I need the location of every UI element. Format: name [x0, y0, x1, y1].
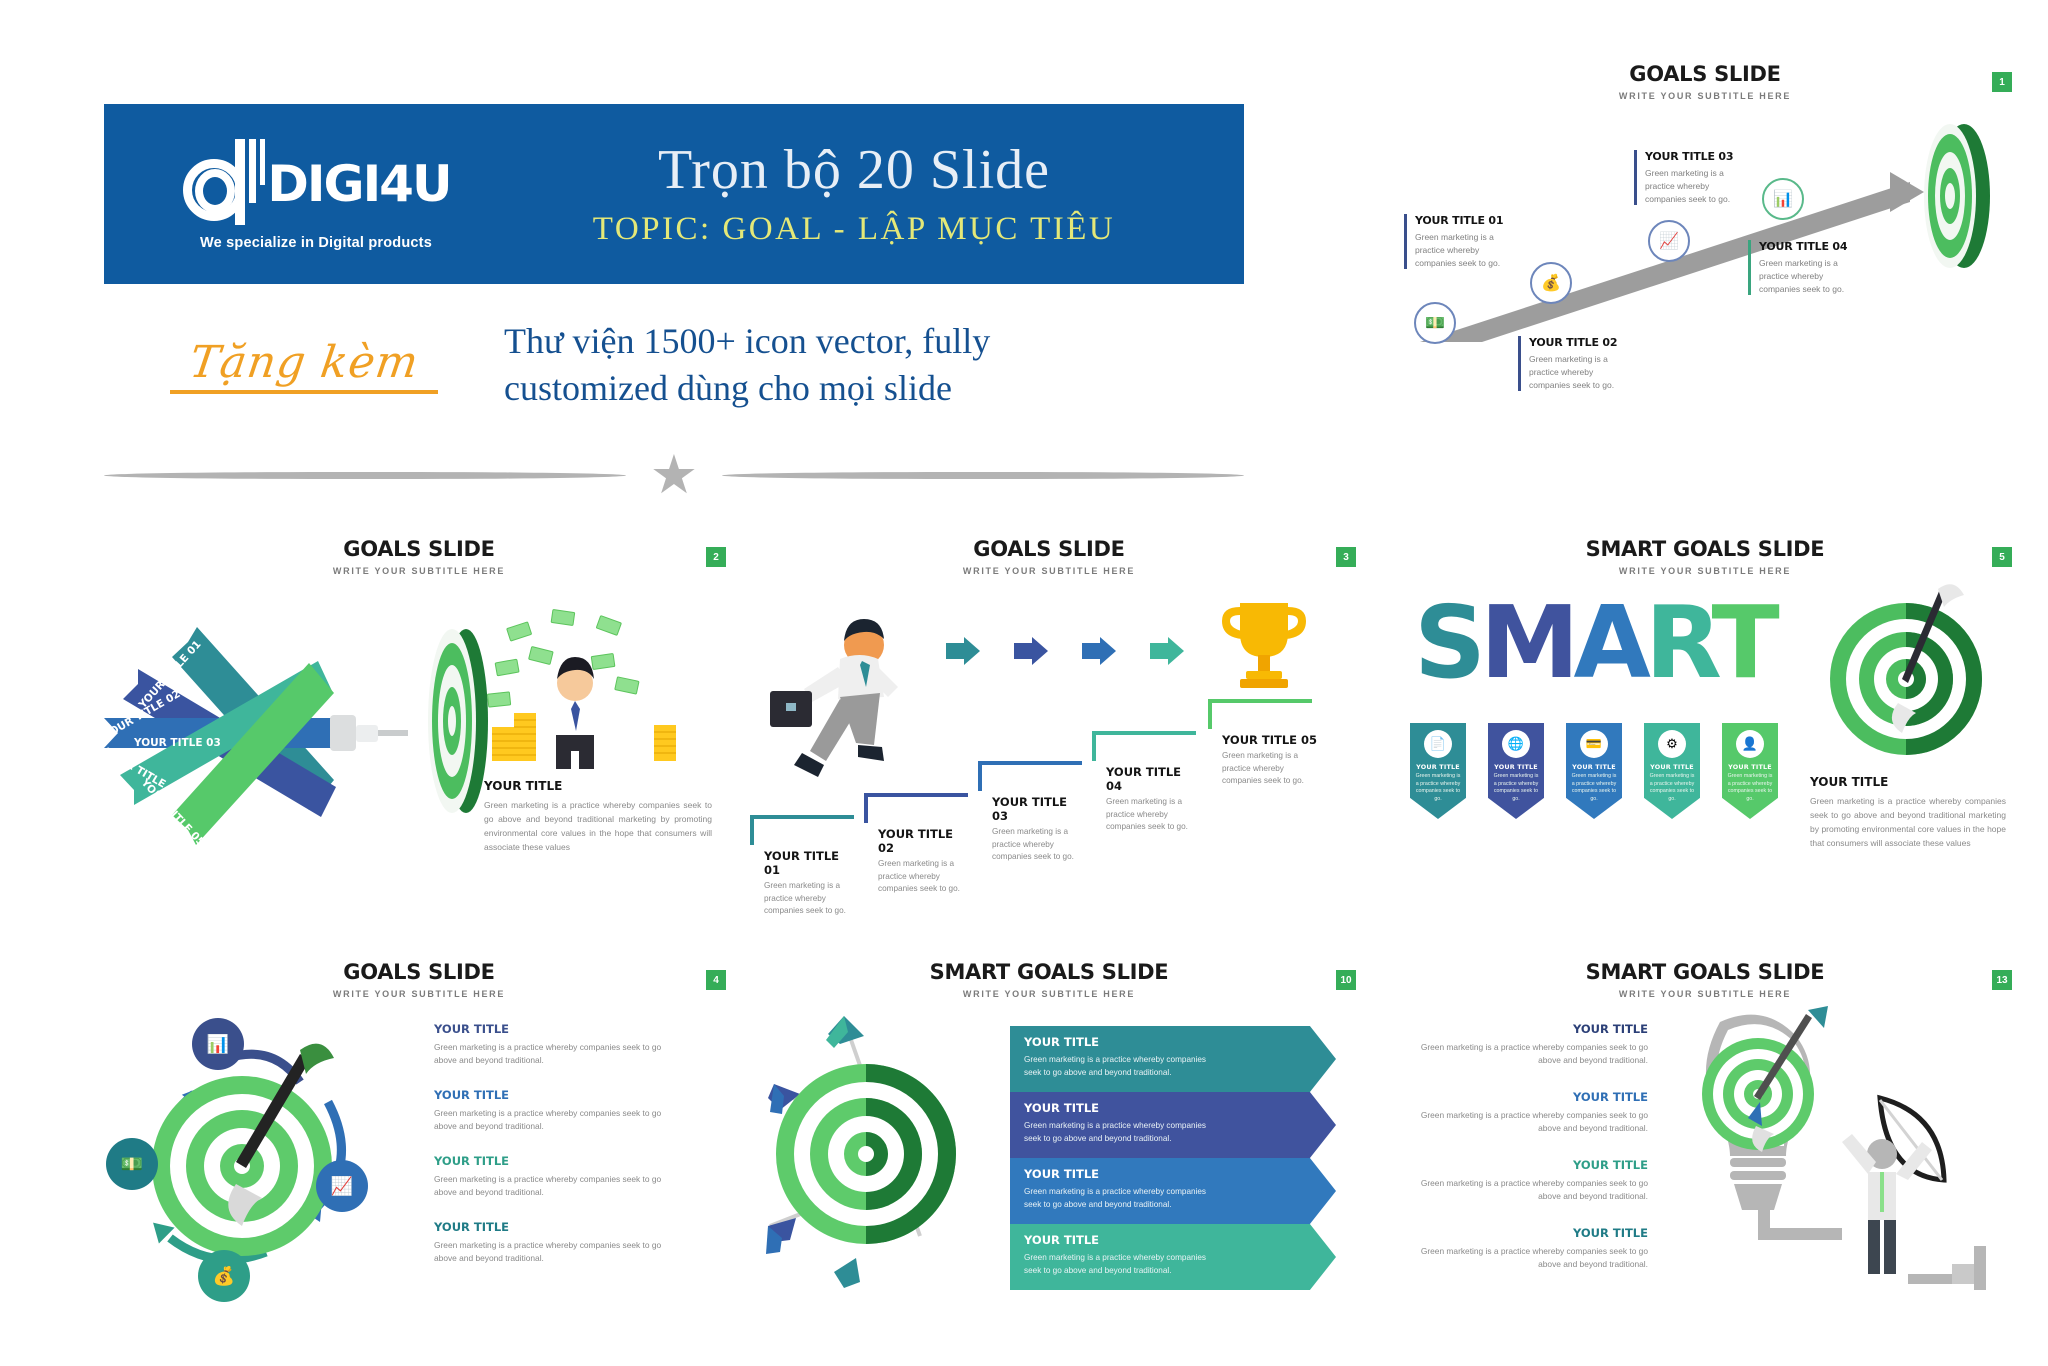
chevron-1[interactable]: YOUR TITLE Green marketing is a practice…	[1010, 1026, 1336, 1092]
chevron-4-title: YOUR TITLE	[1024, 1233, 1336, 1247]
cycle-node-3[interactable]: 💰	[198, 1250, 250, 1302]
smart-card-4-body: Green marketing is a practice whereby co…	[1644, 773, 1700, 804]
roadmap-item-1-body: Green marketing is a practice whereby co…	[1415, 231, 1516, 269]
step-3-body: Green marketing is a practice whereby co…	[992, 826, 1084, 864]
roadmap-item-2-title: YOUR TITLE 02	[1529, 336, 1630, 349]
slide-4-item-1: YOUR TITLE Green marketing is a practice…	[434, 1022, 682, 1068]
roadmap-node-presentation[interactable]: 📊	[1762, 178, 1804, 220]
chevron-2-body: Green marketing is a practice whereby co…	[1024, 1119, 1216, 1145]
slide-5-side-body: Green marketing is a practice whereby co…	[1810, 794, 2006, 850]
slide-13-title: SMART GOALS SLIDE	[1390, 960, 2020, 984]
smart-card-2[interactable]: 🌐 YOUR TITLE Green marketing is a practi…	[1488, 723, 1544, 819]
smart-card-3[interactable]: 💳 YOUR TITLE Green marketing is a practi…	[1566, 723, 1622, 819]
slide-card-1[interactable]: GOALS SLIDE WRITE YOUR SUBTITLE HERE 1 💵…	[1390, 62, 2020, 400]
slide-4-item-3-title: YOUR TITLE	[434, 1154, 682, 1168]
section-divider: ★	[104, 455, 1244, 495]
slide-13-item-4-title: YOUR TITLE	[1404, 1226, 1648, 1240]
businessman-money-icon	[482, 609, 702, 769]
money-bag-icon: 💰	[1541, 273, 1561, 293]
slide-3-title: GOALS SLIDE	[734, 537, 1364, 561]
step-3-title: YOUR TITLE 03	[992, 795, 1084, 823]
smart-card-5-body: Green marketing is a practice whereby co…	[1722, 773, 1778, 804]
star-icon: ★	[650, 455, 698, 495]
presentation-money-icon: 📊	[207, 1034, 229, 1055]
network-icon: 🌐	[1502, 730, 1530, 758]
slide-5-title: SMART GOALS SLIDE	[1390, 537, 2020, 561]
slide-13-item-4-body: Green marketing is a practice whereby co…	[1404, 1245, 1648, 1272]
roadmap-node-chart[interactable]: 📈	[1648, 220, 1690, 262]
smart-card-5[interactable]: 👤 YOUR TITLE Green marketing is a practi…	[1722, 723, 1778, 819]
chevron-4-body: Green marketing is a practice whereby co…	[1024, 1251, 1216, 1277]
slide-5-subtitle: WRITE YOUR SUBTITLE HERE	[1390, 566, 2020, 576]
promo-line-1: Thư viện 1500+ icon vector, fully	[504, 318, 1244, 365]
slide-13-subtitle: WRITE YOUR SUBTITLE HERE	[1390, 989, 2020, 999]
smart-wordmark: SMART	[1414, 593, 1774, 693]
slide-5-side-text: YOUR TITLE Green marketing is a practice…	[1810, 775, 2006, 850]
divider-bar-right	[722, 472, 1244, 479]
chevron-3[interactable]: YOUR TITLE Green marketing is a practice…	[1010, 1158, 1336, 1224]
poster-title: Trọn bộ 20 Slide	[504, 140, 1204, 202]
slide-4-item-4-title: YOUR TITLE	[434, 1220, 682, 1234]
roadmap-item-2-body: Green marketing is a practice whereby co…	[1529, 353, 1630, 391]
slide-13-item-2-body: Green marketing is a practice whereby co…	[1404, 1109, 1648, 1136]
promo-text: Thư viện 1500+ icon vector, fully custom…	[504, 318, 1244, 412]
gift-label: Tặng kèm	[186, 337, 422, 388]
roadmap-item-3-body: Green marketing is a practice whereby co…	[1645, 167, 1746, 205]
slide-3-number-badge: 3	[1336, 547, 1356, 567]
banner-titles: Trọn bộ 20 Slide TOPIC: GOAL - LẬP MỤC T…	[504, 140, 1244, 249]
step-4: YOUR TITLE 04 Green marketing is a pract…	[1092, 731, 1196, 787]
digi4u-logo-icon	[181, 137, 267, 231]
slide-4-item-1-body: Green marketing is a practice whereby co…	[434, 1041, 682, 1068]
slide-13-item-1-title: YOUR TITLE	[1404, 1022, 1648, 1036]
cycle-node-1[interactable]: 📊	[192, 1018, 244, 1070]
smart-letter-s: S	[1414, 584, 1480, 701]
person-icon: 👤	[1736, 730, 1764, 758]
header-banner: DIGI4U We specialize in Digital products…	[104, 104, 1244, 284]
step-4-body: Green marketing is a practice whereby co…	[1106, 796, 1198, 834]
slide-13-item-1-body: Green marketing is a practice whereby co…	[1404, 1041, 1648, 1068]
slide-4-list: YOUR TITLE Green marketing is a practice…	[434, 1022, 682, 1266]
step-4-title: YOUR TITLE 04	[1106, 765, 1198, 793]
slide-13-item-1: YOUR TITLE Green marketing is a practice…	[1404, 1022, 1648, 1068]
promo-line-2: customized dùng cho mọi slide	[504, 365, 1244, 412]
step-1-title: YOUR TITLE 01	[764, 849, 856, 877]
roadmap-node-moneybag[interactable]: 💰	[1530, 262, 1572, 304]
roadmap-item-3-title: YOUR TITLE 03	[1645, 150, 1746, 163]
chevron-2[interactable]: YOUR TITLE Green marketing is a practice…	[1010, 1092, 1336, 1158]
logo-tagline: We specialize in Digital products	[200, 235, 432, 251]
slide-1-number-badge: 1	[1992, 72, 2012, 92]
step-2: YOUR TITLE 02 Green marketing is a pract…	[864, 793, 968, 849]
smart-card-1-title: YOUR TITLE	[1416, 763, 1460, 771]
roadmap-node-banknote[interactable]: 💵	[1414, 302, 1456, 344]
slide-card-5[interactable]: SMART GOALS SLIDE WRITE YOUR SUBTITLE HE…	[1390, 537, 2020, 875]
slide-2-side-text: YOUR TITLE Green marketing is a practice…	[484, 779, 712, 854]
roadmap-item-1: YOUR TITLE 01 Green marketing is a pract…	[1404, 214, 1516, 269]
slide-4-number-badge: 4	[706, 970, 726, 990]
slide-2-number-badge: 2	[706, 547, 726, 567]
slide-2-side-title: YOUR TITLE	[484, 779, 712, 793]
slide-5-number-badge: 5	[1992, 547, 2012, 567]
smart-letter-t: T	[1711, 584, 1773, 701]
target-arrow-icon	[1820, 583, 2000, 763]
slide-4-item-2-title: YOUR TITLE	[434, 1088, 682, 1102]
roadmap-item-3: YOUR TITLE 03 Green marketing is a pract…	[1634, 150, 1746, 205]
smart-card-3-title: YOUR TITLE	[1572, 763, 1616, 771]
slide-4-item-2-body: Green marketing is a practice whereby co…	[434, 1107, 682, 1134]
slide-4-item-3: YOUR TITLE Green marketing is a practice…	[434, 1154, 682, 1200]
money-bag-icon: 💰	[213, 1266, 235, 1287]
running-businessman-icon	[756, 607, 916, 777]
slide-4-title: GOALS SLIDE	[104, 960, 734, 984]
cycle-node-2[interactable]: 📈	[316, 1160, 368, 1212]
slide-card-10[interactable]: SMART GOALS SLIDE WRITE YOUR SUBTITLE HE…	[734, 960, 1364, 1298]
gift-underline	[170, 390, 438, 394]
smart-card-2-body: Green marketing is a practice whereby co…	[1488, 773, 1544, 804]
step-1: YOUR TITLE 01 Green marketing is a pract…	[750, 815, 854, 871]
step-5-body: Green marketing is a practice whereby co…	[1222, 750, 1318, 788]
step-5-title: YOUR TITLE 05	[1222, 733, 1318, 747]
slide-2-title: GOALS SLIDE	[104, 537, 734, 561]
slide-4-item-1-title: YOUR TITLE	[434, 1022, 682, 1036]
presentation-money-icon: 📊	[1773, 189, 1793, 209]
roadmap-item-2: YOUR TITLE 02 Green marketing is a pract…	[1518, 336, 1630, 391]
banknote-icon: 💵	[121, 1154, 143, 1175]
cycle-node-4[interactable]: 💵	[106, 1138, 158, 1190]
slide-card-2[interactable]: GOALS SLIDE WRITE YOUR SUBTITLE HERE 2 Y…	[104, 537, 734, 875]
archer-icon	[1836, 1094, 2006, 1290]
step-1-body: Green marketing is a practice whereby co…	[764, 880, 856, 918]
smart-card-4[interactable]: ⚙ YOUR TITLE Green marketing is a practi…	[1644, 723, 1700, 819]
slide-2-subtitle: WRITE YOUR SUBTITLE HERE	[104, 566, 734, 576]
smart-letter-r: R	[1645, 584, 1712, 701]
poster-topic: TOPIC: GOAL - LẬP MỤC TIÊU	[504, 211, 1204, 248]
slide-4-item-2: YOUR TITLE Green marketing is a practice…	[434, 1088, 682, 1134]
arrow-1-icon	[946, 637, 980, 665]
slide-3-subtitle: WRITE YOUR SUBTITLE HERE	[734, 566, 1364, 576]
wallet-icon: 💳	[1580, 730, 1608, 758]
chevron-1-body: Green marketing is a practice whereby co…	[1024, 1053, 1216, 1079]
document-icon: 📄	[1424, 730, 1452, 758]
trophy-icon	[1216, 597, 1316, 693]
roadmap-item-1-title: YOUR TITLE 01	[1415, 214, 1516, 227]
divider-bar-left	[104, 472, 626, 479]
chart-icon: 📈	[1659, 231, 1679, 251]
target-arrows-icon	[748, 996, 1048, 1296]
step-5: YOUR TITLE 05 Green marketing is a pract…	[1208, 699, 1312, 755]
slide-13-list: YOUR TITLE Green marketing is a practice…	[1404, 1022, 1648, 1272]
chevron-1-title: YOUR TITLE	[1024, 1035, 1336, 1049]
slide-5-side-title: YOUR TITLE	[1810, 775, 2006, 789]
smart-card-1[interactable]: 📄 YOUR TITLE Green marketing is a practi…	[1410, 723, 1466, 819]
arrow-3-icon	[1082, 637, 1116, 665]
slide-card-4[interactable]: GOALS SLIDE WRITE YOUR SUBTITLE HERE 4 📊	[104, 960, 734, 1298]
chevron-3-title: YOUR TITLE	[1024, 1167, 1336, 1181]
smart-card-4-title: YOUR TITLE	[1650, 763, 1694, 771]
gift-badge: Tặng kèm	[104, 337, 504, 394]
smart-letter-m: M	[1480, 584, 1574, 701]
slide-card-13[interactable]: SMART GOALS SLIDE WRITE YOUR SUBTITLE HE…	[1390, 960, 2020, 1298]
slide-2-side-body: Green marketing is a practice whereby co…	[484, 798, 712, 854]
step-3: YOUR TITLE 03 Green marketing is a pract…	[978, 761, 1082, 817]
gear-icon: ⚙	[1658, 730, 1686, 758]
poster-page: DIGI4U We specialize in Digital products…	[0, 0, 2048, 1366]
arrow-2-icon	[1014, 637, 1048, 665]
slide-4-item-4: YOUR TITLE Green marketing is a practice…	[434, 1220, 682, 1266]
roadmap-item-4-title: YOUR TITLE 04	[1759, 240, 1860, 253]
slide-13-item-4: YOUR TITLE Green marketing is a practice…	[1404, 1226, 1648, 1272]
roadmap-item-4: YOUR TITLE 04 Green marketing is a pract…	[1748, 240, 1860, 295]
chevron-2-title: YOUR TITLE	[1024, 1101, 1336, 1115]
logo-wordmark: DIGI4U	[267, 159, 450, 209]
slide-card-3[interactable]: GOALS SLIDE WRITE YOUR SUBTITLE HERE 3	[734, 537, 1364, 875]
smart-letter-a: A	[1574, 584, 1645, 701]
slide-13-item-3-title: YOUR TITLE	[1404, 1158, 1648, 1172]
slide-1-subtitle: WRITE YOUR SUBTITLE HERE	[1390, 91, 2020, 101]
slide-13-item-2: YOUR TITLE Green marketing is a practice…	[1404, 1090, 1648, 1136]
slide-13-item-3: YOUR TITLE Green marketing is a practice…	[1404, 1158, 1648, 1204]
smart-card-5-title: YOUR TITLE	[1728, 763, 1772, 771]
chevron-4[interactable]: YOUR TITLE Green marketing is a practice…	[1010, 1224, 1336, 1290]
progress-arrows	[946, 637, 1216, 673]
step-2-title: YOUR TITLE 02	[878, 827, 970, 855]
slide-4-item-4-body: Green marketing is a practice whereby co…	[434, 1239, 682, 1266]
step-2-body: Green marketing is a practice whereby co…	[878, 858, 970, 896]
smart-card-2-title: YOUR TITLE	[1494, 763, 1538, 771]
banknote-icon: 💵	[1425, 313, 1445, 333]
bullseye-target-icon	[1892, 120, 2012, 270]
slide-10-title: SMART GOALS SLIDE	[734, 960, 1364, 984]
lightbulb-target-icon	[1662, 1006, 1842, 1296]
slide-1-title: GOALS SLIDE	[1390, 62, 2020, 86]
chart-icon: 📈	[331, 1176, 353, 1197]
brand-logo: DIGI4U We specialize in Digital products	[104, 137, 504, 251]
slide-4-item-3-body: Green marketing is a practice whereby co…	[434, 1173, 682, 1200]
arrow-4-icon	[1150, 637, 1184, 665]
slide-13-item-2-title: YOUR TITLE	[1404, 1090, 1648, 1104]
roadmap-item-4-body: Green marketing is a practice whereby co…	[1759, 257, 1860, 295]
promo-row: Tặng kèm Thư viện 1500+ icon vector, ful…	[104, 310, 1244, 420]
chevron-3-body: Green marketing is a practice whereby co…	[1024, 1185, 1216, 1211]
slide-13-number-badge: 13	[1992, 970, 2012, 990]
smart-card-1-body: Green marketing is a practice whereby co…	[1410, 773, 1466, 804]
slide-13-item-3-body: Green marketing is a practice whereby co…	[1404, 1177, 1648, 1204]
smart-card-3-body: Green marketing is a practice whereby co…	[1566, 773, 1622, 804]
cycle-target-diagram	[110, 998, 410, 1298]
ribbon-label-3: YOUR TITLE 03	[134, 733, 221, 751]
slide-10-number-badge: 10	[1336, 970, 1356, 990]
